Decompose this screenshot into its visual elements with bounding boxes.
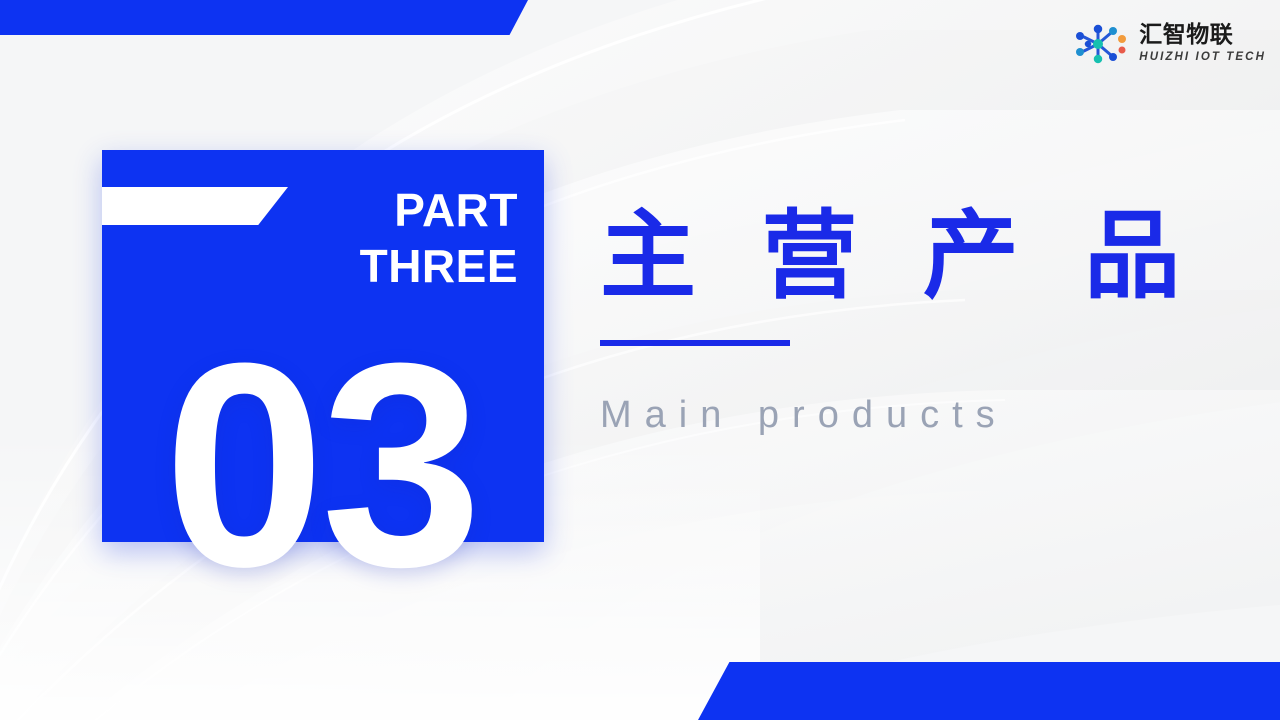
page-title: 主 营 产 品 — [600, 206, 1200, 308]
section-number: 03 — [102, 320, 540, 610]
section-number-block: PART THREE 03 — [102, 150, 544, 542]
molecule-network-icon — [1073, 24, 1131, 64]
part-label-line1: PART — [258, 182, 518, 238]
logo-name-en: HUIZHI IOT TECH — [1139, 52, 1266, 64]
company-logo: 汇智物联 HUIZHI IOT TECH — [1073, 24, 1266, 64]
underline-rule-icon — [600, 340, 790, 346]
part-label-line2: THREE — [258, 238, 518, 294]
page-subtitle: Main products — [600, 394, 1200, 437]
top-left-blue-banner — [0, 0, 528, 35]
bottom-right-blue-banner — [698, 662, 1280, 720]
part-label: PART THREE — [258, 182, 518, 294]
presentation-slide: PART THREE 03 主 营 产 品 Main products — [0, 0, 1280, 720]
section-headings: 主 营 产 品 Main products — [600, 206, 1200, 437]
logo-text-group: 汇智物联 HUIZHI IOT TECH — [1139, 24, 1266, 64]
logo-name-cn: 汇智物联 — [1139, 24, 1266, 47]
